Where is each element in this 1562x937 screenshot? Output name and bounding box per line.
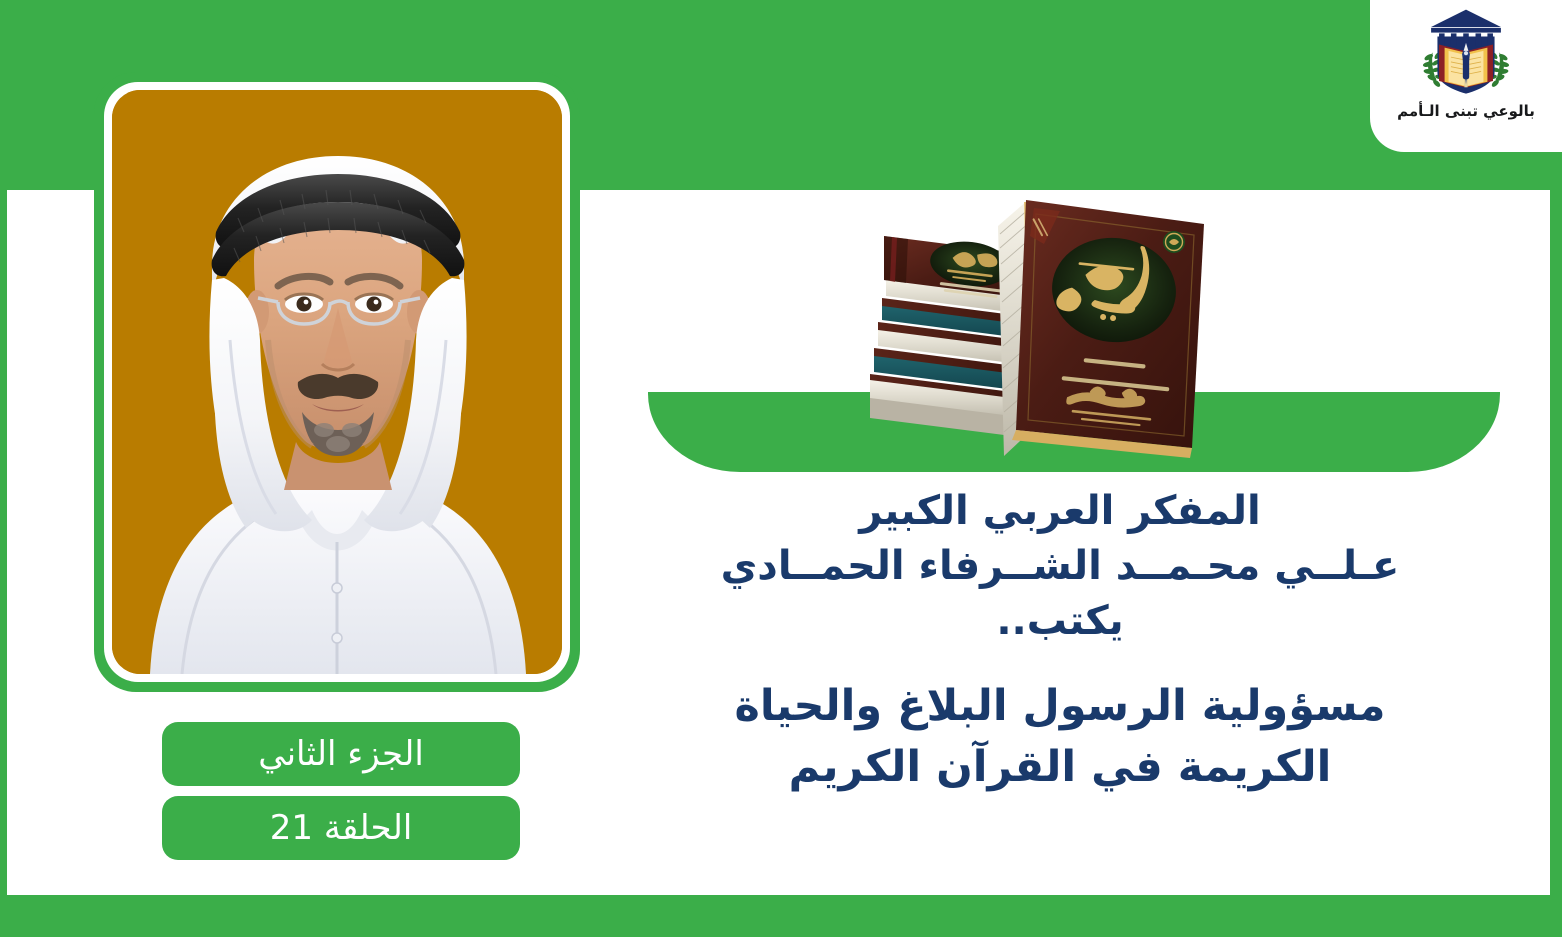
logo-tagline: بالوعي تبنى الـأمم (1397, 102, 1535, 120)
portrait-frame (94, 72, 580, 692)
badge-episode[interactable]: الحلقة 21 (162, 796, 520, 860)
portrait-photo (112, 90, 562, 674)
right-green-band (1550, 150, 1562, 937)
text-column: المفكر العربي الكبير عـلــي محـمــد الشـ… (610, 484, 1510, 798)
bottom-green-band (0, 895, 1562, 937)
article-title: مسؤولية الرسول البلاغ والحياة الكريمة في… (610, 676, 1510, 798)
portrait-inner-white-gap (104, 82, 570, 682)
left-green-band (0, 190, 7, 937)
badge-part[interactable]: الجزء الثاني (162, 722, 520, 786)
institute-book-pen-laurel-emblem (1418, 8, 1514, 100)
brand-logo-card: بالوعي تبنى الـأمم (1370, 0, 1562, 152)
headline-line-3: يكتب.. (610, 594, 1510, 649)
badge-episode-label: الحلقة 21 (270, 808, 413, 848)
article-title-line-2: الكريمة في القرآن الكريم (610, 737, 1510, 798)
books-stack-illustration (848, 178, 1260, 478)
article-title-line-1: مسؤولية الرسول البلاغ والحياة (610, 676, 1510, 737)
badge-part-label: الجزء الثاني (258, 734, 424, 774)
headline-line-1: المفكر العربي الكبير (610, 484, 1510, 539)
portrait-illustration (112, 90, 562, 674)
books-svg (848, 178, 1260, 478)
headline-line-2: عـلــي محـمــد الشــرفاء الحمــادي (610, 539, 1510, 594)
